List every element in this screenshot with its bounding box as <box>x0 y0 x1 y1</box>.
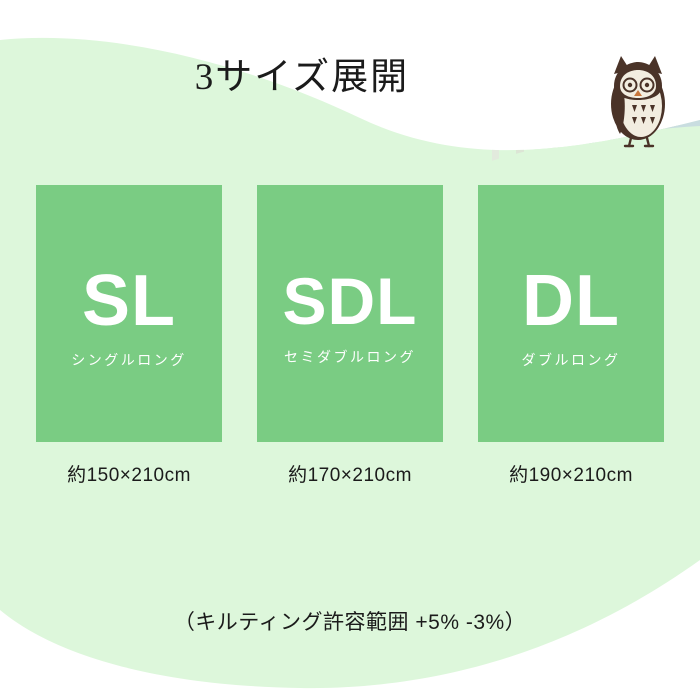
size-code: DL <box>522 267 620 335</box>
illustration-canvas: 3サイズ展開 SL シングルロング SDL セミダブルロング DL ダブルロング… <box>0 0 700 700</box>
size-card-sl: SL シングルロング <box>36 185 222 442</box>
size-code: SL <box>82 267 176 335</box>
dimension-label-dl: 約190×210cm <box>478 460 664 487</box>
size-name: セミダブルロング <box>284 347 416 367</box>
quilting-tolerance-note: （キルティング許容範囲 +5% -3%） <box>0 606 700 636</box>
size-card-sdl: SDL セミダブルロング <box>257 185 443 442</box>
size-name: シングルロング <box>71 350 187 370</box>
size-code: SDL <box>283 270 418 333</box>
size-name: ダブルロング <box>522 350 621 370</box>
size-card-dl: DL ダブルロング <box>478 185 664 442</box>
dimension-label-sl: 約150×210cm <box>36 460 222 487</box>
page-title: 3サイズ展開 <box>0 46 652 100</box>
dimension-label-sdl: 約170×210cm <box>257 460 443 487</box>
size-card-list: SL シングルロング SDL セミダブルロング DL ダブルロング <box>36 185 664 442</box>
dimension-label-list: 約150×210cm 約170×210cm 約190×210cm <box>36 460 664 487</box>
